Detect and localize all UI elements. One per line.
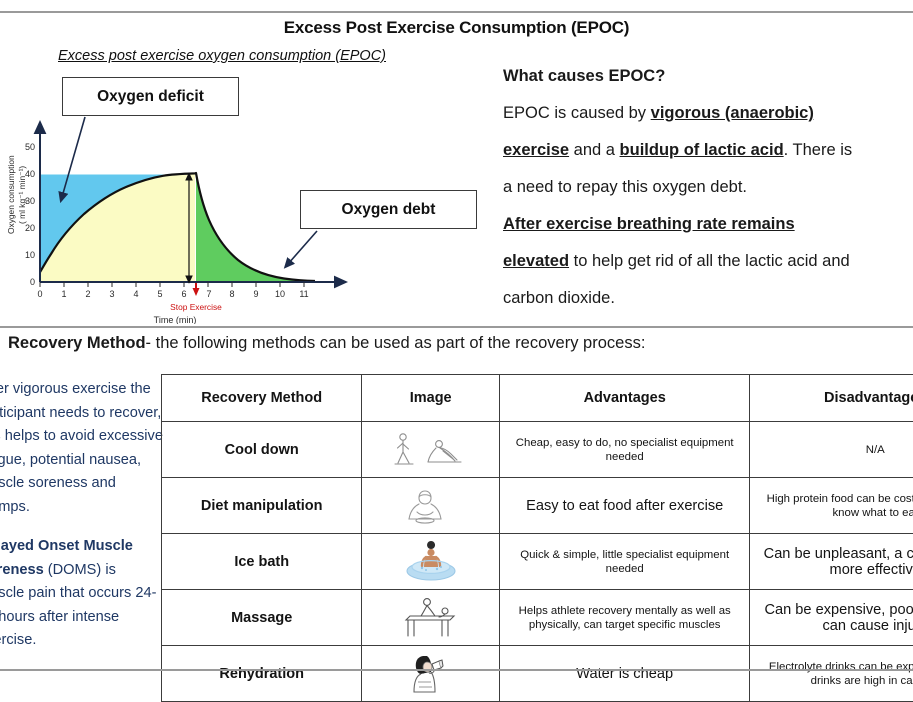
oxygen-debt-label: Oxygen debt: [342, 201, 436, 219]
epoc-heading: What causes EPOC?: [503, 58, 913, 95]
x-tick-5: 5: [157, 289, 162, 299]
method-advantages: Water is cheap: [499, 646, 750, 702]
epoc-line1-pre: EPOC is caused by: [503, 104, 651, 122]
recovery-side-notes: After vigorous exercise the participant …: [0, 378, 163, 669]
method-image: [362, 646, 500, 702]
method-disadvantages: High protein food can be costly, some do…: [750, 478, 913, 534]
person-drinking-icon: [405, 652, 457, 696]
epoc-line-5: elevated to help get rid of all the lact…: [503, 243, 913, 280]
x-tick-8: 8: [229, 289, 234, 299]
method-disadvantages: Electrolyte drinks can be expensive, som…: [750, 646, 913, 702]
method-advantages: Helps athlete recovery mentally as well …: [499, 590, 750, 646]
recovery-heading-bold: Recovery Method: [8, 334, 146, 352]
stretching-figures-icon: [383, 430, 479, 470]
x-tick-11: 11: [299, 289, 308, 299]
chart-caption: Excess post exercise oxygen consumption …: [58, 48, 386, 64]
table-row: Ice bath Quick & simple, l: [162, 534, 913, 590]
method-image: [362, 590, 500, 646]
epoc-line5-bold: elevated: [503, 252, 569, 270]
column-header-image: Image: [362, 375, 500, 422]
column-header-advantages: Advantages: [499, 375, 750, 422]
y-axis-label-line1: Oxygen consumption: [6, 155, 16, 234]
side-note-paragraph-2: Delayed Onset Muscle Soreness (DOMS) is …: [0, 535, 163, 653]
y-tick-0: 0: [30, 277, 35, 287]
x-tick-7: 7: [206, 289, 211, 299]
table-header-row: Recovery Method Image Advantages Disadva…: [162, 375, 913, 422]
table-row: Rehydration Water is cheap Electrolyte d…: [162, 646, 913, 702]
column-header-recovery-method: Recovery Method: [162, 375, 362, 422]
stop-exercise-arrow-icon: [193, 283, 200, 296]
epoc-line5-post: to help get rid of all the lactic acid a…: [569, 252, 850, 270]
table-row: Massage Helps athlete recovery menta: [162, 590, 913, 646]
column-header-disadvantages: Disadvantages: [750, 375, 913, 422]
y-tick-50: 50: [25, 142, 35, 152]
method-advantages: Quick & simple, little specialist equipm…: [499, 534, 750, 590]
oxygen-deficit-callout: Oxygen deficit: [62, 77, 239, 116]
epoc-line2-post: . There is: [784, 141, 852, 159]
method-disadvantages: N/A: [750, 422, 913, 478]
epoc-explanation: What causes EPOC? EPOC is caused by vigo…: [503, 58, 913, 317]
method-name: Cool down: [162, 422, 362, 478]
person-eating-icon: [401, 485, 461, 527]
x-tick-10: 10: [275, 289, 285, 299]
x-tick-2: 2: [85, 289, 90, 299]
epoc-line2-bold: exercise: [503, 141, 569, 159]
epoc-line-3: a need to repay this oxygen debt.: [503, 169, 913, 206]
recovery-heading-rest: - the following methods can be used as p…: [146, 334, 646, 352]
x-tick-3: 3: [109, 289, 114, 299]
x-tick-0: 0: [37, 289, 42, 299]
epoc-line4-bold: After exercise breathing rate remains: [503, 215, 795, 233]
y-tick-10: 10: [25, 250, 35, 260]
ice-bath-icon: [396, 541, 466, 583]
x-axis-label: Time (min): [154, 315, 197, 324]
debt-leader-line: [288, 231, 317, 264]
epoc-line-1: EPOC is caused by vigorous (anaerobic): [503, 95, 913, 132]
method-image: [362, 478, 500, 534]
epoc-chart: Excess post exercise oxygen consumption …: [0, 48, 480, 323]
recovery-methods-table: Recovery Method Image Advantages Disadva…: [161, 374, 913, 702]
section-divider: [0, 326, 913, 328]
method-name: Massage: [162, 590, 362, 646]
recovery-method-heading: Recovery Method- the following methods c…: [8, 334, 913, 353]
bottom-divider: [0, 669, 913, 671]
oxygen-deficit-label: Oxygen deficit: [97, 88, 204, 106]
epoc-line2-bold2: buildup of lactic acid: [620, 141, 784, 159]
method-name: Diet manipulation: [162, 478, 362, 534]
epoc-line-2: exercise and a buildup of lactic acid. T…: [503, 132, 913, 169]
method-image: [362, 534, 500, 590]
method-image: [362, 422, 500, 478]
x-tick-1: 1: [61, 289, 66, 299]
top-divider: [0, 11, 913, 13]
method-advantages: Cheap, easy to do, no specialist equipme…: [499, 422, 750, 478]
epoc-line-4: After exercise breathing rate remains: [503, 206, 913, 243]
method-disadvantages: Can be expensive, poor technique can cau…: [750, 590, 913, 646]
method-disadvantages: Can be unpleasant, a cool down is more e…: [750, 534, 913, 590]
massage-table-icon: [394, 596, 468, 640]
table-row: Diet manipulation Easy to eat food after…: [162, 478, 913, 534]
oxygen-debt-callout: Oxygen debt: [300, 190, 477, 229]
oxygen-debt-region: [196, 173, 315, 282]
epoc-line1-bold: vigorous (anaerobic): [651, 104, 814, 122]
x-tick-4: 4: [133, 289, 138, 299]
method-advantages: Easy to eat food after exercise: [499, 478, 750, 534]
table-row: Cool down Cheap, easy to do, no spec: [162, 422, 913, 478]
epoc-line2-mid: and a: [569, 141, 619, 159]
x-tick-6: 6: [181, 289, 186, 299]
y-axis-label-line2: ( ml kg⁻¹ min⁻¹): [17, 166, 27, 224]
epoc-line-6: carbon dioxide.: [503, 280, 913, 317]
side-note-paragraph-1: After vigorous exercise the participant …: [0, 378, 163, 519]
method-name: Ice bath: [162, 534, 362, 590]
stop-exercise-label: Stop Exercise: [170, 302, 222, 312]
method-name: Rehydration: [162, 646, 362, 702]
x-tick-9: 9: [253, 289, 258, 299]
page-title: Excess Post Exercise Consumption (EPOC): [0, 18, 913, 38]
